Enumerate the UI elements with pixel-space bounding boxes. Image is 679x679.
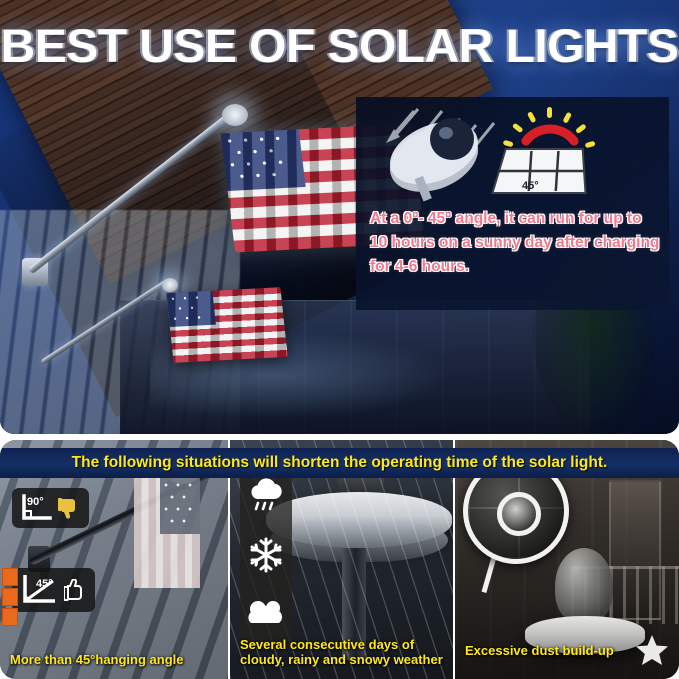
warnings-section: 90° 45° [0, 440, 679, 679]
cloudy-icon [245, 597, 287, 629]
panel-angle-label: 45° [522, 180, 539, 192]
level-bar [2, 588, 18, 606]
panel-caption: More than 45°hanging angle [0, 652, 228, 667]
info-panel-icons: 45° [356, 97, 669, 205]
angle-badge-45: 45° [12, 568, 95, 612]
level-bar [2, 608, 18, 626]
snowflake-icon [246, 535, 286, 575]
panel-caption-text: Excessive dust build-up [465, 643, 614, 658]
warnings-banner-text: The following situations will shorten th… [72, 454, 608, 472]
warnings-banner: The following situations will shorten th… [0, 448, 679, 478]
angle-90-label: 90° [27, 496, 44, 508]
flag-canton [160, 478, 200, 534]
orange-level-bars [2, 568, 18, 628]
product-infographic: BEST USE OF SOLAR LIGHTS [0, 0, 679, 679]
solar-panel-icon [493, 149, 592, 193]
angle-badge-90: 90° [12, 488, 89, 528]
panel-caption: Excessive dust build-up [455, 633, 679, 667]
rain-cloud-icon [246, 477, 286, 513]
thumbs-up-icon [64, 579, 88, 601]
lamp-globe [555, 548, 613, 624]
panel-caption: Several consecutive days of cloudy, rain… [230, 637, 453, 667]
caption-row: Excessive dust build-up [465, 633, 669, 667]
magnifier-inner-ring [497, 492, 541, 536]
info-panel-text: At a 0°- 45° angle, it can run for up to… [370, 207, 660, 279]
angle-45-icon: 45° [19, 573, 59, 607]
solar-light-primary [222, 104, 248, 126]
sun-icon [503, 107, 596, 148]
weather-icon-strip [240, 458, 292, 648]
star-icon [635, 633, 669, 667]
hero-section: BEST USE OF SOLAR LIGHTS [0, 0, 679, 434]
thumbs-down-icon [58, 497, 82, 519]
solar-light-secondary [162, 278, 178, 292]
american-flag-secondary [166, 287, 287, 363]
info-panel: 45° At a 0°- 45° angle, it can run for u… [356, 97, 669, 310]
solar-light-disc-icon [380, 110, 488, 204]
angle-45-label: 45° [36, 578, 53, 590]
info-icons-svg: 45° [356, 97, 669, 205]
page-title: BEST USE OF SOLAR LIGHTS [0, 18, 679, 73]
angle-90-icon: 90° [19, 493, 53, 523]
level-bar [2, 568, 18, 586]
flag-wave-shading-secondary [166, 287, 287, 363]
hanging-flag [134, 478, 200, 588]
